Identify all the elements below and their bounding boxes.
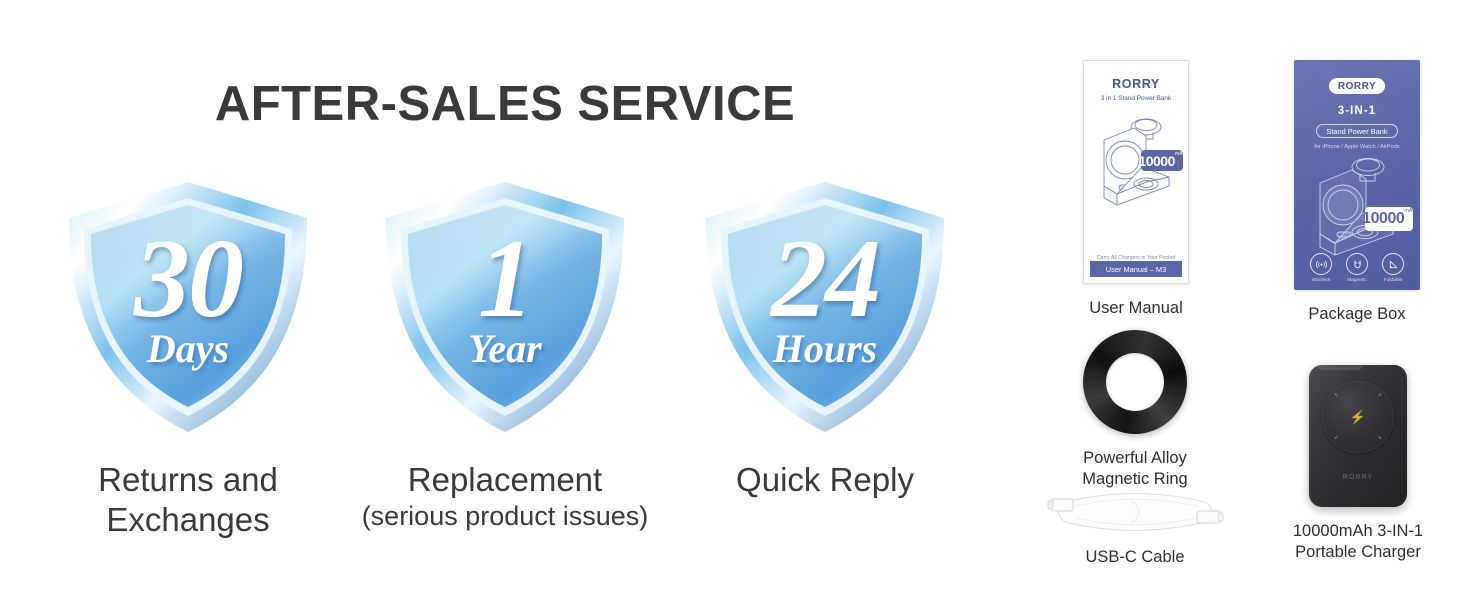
charger-brand-logo: RORRY <box>1309 474 1407 481</box>
cable-illustration <box>1045 485 1225 541</box>
power-bank-graphic: ⚡ ↖ ↗ ↙ ↘ RORRY <box>1309 365 1407 507</box>
manual-subtitle: 3 in 1 Stand Power Bank <box>1084 95 1188 102</box>
service-caption: Replacement <box>345 460 665 500</box>
product-user-manual: RORRY 3 in 1 Stand Power Bank <box>1046 60 1226 319</box>
capacity-value: 10000 <box>1362 211 1404 227</box>
manual-brand: RORRY <box>1084 77 1188 91</box>
product-usb-c-cable: USB-C Cable <box>1040 485 1230 568</box>
pad-tick-icon: ↖ <box>1334 393 1339 399</box>
product-caption: Package Box <box>1262 304 1452 325</box>
capacity-unit: mAh <box>1404 209 1416 215</box>
capacity-badge: 10000 mAh <box>1365 207 1413 231</box>
capacity-value: 10000 <box>1138 154 1174 168</box>
product-caption: User Manual <box>1046 298 1226 319</box>
feature-label: Magnetic <box>1342 278 1372 283</box>
product-magnetic-ring: Powerful Alloy Magnetic Ring <box>1040 330 1230 489</box>
alloy-ring-graphic <box>1083 330 1187 434</box>
foldable-icon <box>1382 253 1404 275</box>
box-feature-magnetic: Magnetic <box>1342 253 1372 283</box>
box-feature-list: Wireless Magnetic <box>1294 253 1420 283</box>
service-item-returns: 30 Days Returns and Exchanges <box>28 178 348 541</box>
box-feature-foldable: Foldable <box>1378 253 1408 283</box>
lightning-bolt-icon: ⚡ <box>1350 411 1366 424</box>
page-title: AFTER-SALES SERVICE <box>0 76 1010 132</box>
pad-tick-icon: ↗ <box>1377 393 1382 399</box>
service-item-quick-reply: 24 Hours Quick Reply <box>665 178 985 500</box>
usb-cable-graphic <box>1045 485 1225 541</box>
package-contents-panel: RORRY 3 in 1 Stand Power Bank <box>1010 0 1464 600</box>
capacity-badge: 10000 mAh <box>1141 150 1183 171</box>
shield-badge-1-year: 1 Year <box>378 178 632 436</box>
shield-graphic <box>698 178 952 436</box>
after-sales-service-panel: AFTER-SALES SERVICE <box>0 0 1010 600</box>
user-manual-cover: RORRY 3 in 1 Stand Power Bank <box>1083 60 1189 284</box>
wireless-glyph <box>1315 258 1328 271</box>
service-caption: Returns and Exchanges <box>28 460 348 541</box>
magnet-glyph <box>1351 258 1364 271</box>
box-feature-wireless: Wireless <box>1306 253 1336 283</box>
box-brand: RORRY <box>1329 78 1385 94</box>
box-title: 3-IN-1 <box>1294 105 1420 117</box>
manual-footer-label: User Manual – M3 <box>1090 261 1182 277</box>
wireless-icon <box>1310 253 1332 275</box>
manual-stand-illustration: 10000 mAh <box>1084 106 1188 224</box>
shield-graphic <box>61 178 315 436</box>
product-caption: 10000mAh 3-IN-1 Portable Charger <box>1258 521 1458 562</box>
pad-tick-icon: ↙ <box>1334 435 1339 441</box>
shield-badge-24-hours: 24 Hours <box>698 178 952 436</box>
box-subtitle: Stand Power Bank <box>1316 124 1397 138</box>
feature-label: Foldable <box>1378 278 1408 283</box>
product-caption: Powerful Alloy Magnetic Ring <box>1040 448 1230 489</box>
service-item-replacement: 1 Year Replacement (serious product issu… <box>345 178 665 533</box>
service-subcaption: (serious product issues) <box>345 500 665 532</box>
foldable-glyph <box>1387 258 1400 271</box>
service-caption: Quick Reply <box>665 460 985 500</box>
shield-badge-30-days: 30 Days <box>61 178 315 436</box>
box-compatibility: for iPhone / Apple Watch / AirPods <box>1294 144 1420 150</box>
product-portable-charger: ⚡ ↖ ↗ ↙ ↘ RORRY 10000mAh 3-IN-1 Portable… <box>1258 365 1458 562</box>
box-stand-illustration: 10000 mAh <box>1294 151 1420 269</box>
capacity-unit: mAh <box>1175 152 1186 157</box>
product-package-box: RORRY 3-IN-1 Stand Power Bank for iPhone… <box>1262 60 1452 325</box>
wireless-charging-pad: ⚡ ↖ ↗ ↙ ↘ <box>1322 381 1394 453</box>
package-box-artwork: RORRY 3-IN-1 Stand Power Bank for iPhone… <box>1294 60 1420 290</box>
product-caption: USB-C Cable <box>1040 547 1230 568</box>
shield-graphic <box>378 178 632 436</box>
feature-label: Wireless <box>1306 278 1336 283</box>
magnet-icon <box>1346 253 1368 275</box>
pad-tick-icon: ↘ <box>1377 435 1382 441</box>
